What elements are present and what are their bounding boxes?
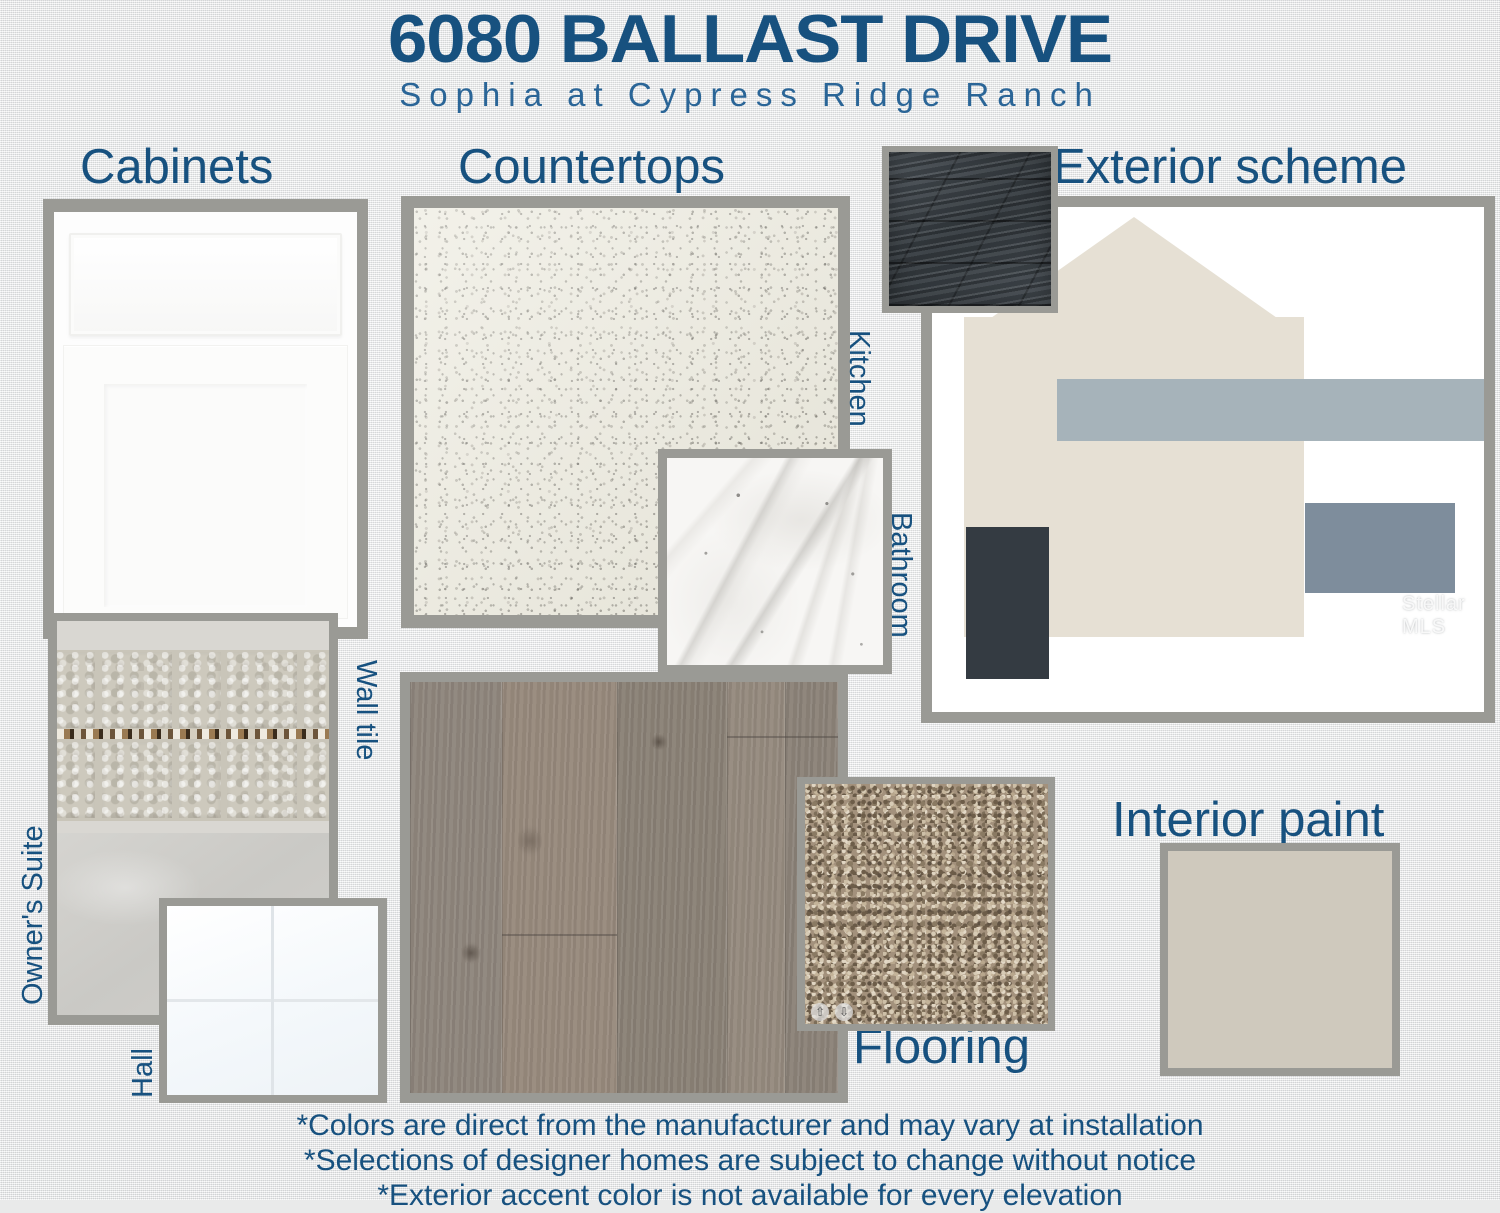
mosaic-tile — [57, 652, 95, 728]
plank-seam — [727, 736, 838, 738]
section-heading-exterior: Exterior scheme — [1053, 142, 1407, 192]
mosaic-top-bar — [57, 621, 329, 650]
accent-swatch — [1305, 503, 1455, 593]
selections-board: 6080 BALLAST DRIVE Sophia at Cypress Rid… — [0, 0, 1500, 1200]
wood-plank — [727, 682, 785, 1093]
front-door-swatch — [966, 527, 1049, 679]
mosaic-accent-strip — [57, 729, 329, 739]
mosaic-tile — [304, 742, 329, 818]
mosaic-tile — [102, 652, 172, 728]
cabinet-door-front — [63, 345, 348, 619]
watermark: Stellar MLS — [1402, 593, 1484, 639]
label-kitchen: Kitchen — [844, 330, 874, 427]
cabinet-drawer-front — [69, 233, 342, 337]
plank-seam — [502, 934, 617, 936]
bathroom-countertop-swatch — [667, 458, 883, 665]
mosaic-tile — [179, 652, 221, 728]
wood-plank — [502, 682, 617, 1093]
disclaimer-line-1: *Colors are direct from the manufacturer… — [0, 1108, 1500, 1143]
mosaic-tile — [227, 742, 297, 818]
hall-tile-swatch — [167, 906, 378, 1095]
mosaic-tile — [304, 652, 329, 728]
wood-knot — [462, 940, 480, 966]
disclaimer-line-3: *Exterior accent color is not available … — [0, 1178, 1500, 1213]
wood-plank — [617, 682, 727, 1093]
mosaic-tile — [227, 652, 297, 728]
interior-paint-swatch — [1168, 851, 1392, 1068]
shingle-swatch — [889, 152, 1051, 306]
section-heading-cabinets: Cabinets — [80, 142, 273, 192]
section-heading-countertops: Countertops — [458, 142, 725, 192]
section-heading-wall-tile: Wall tile — [351, 660, 381, 760]
page-subtitle: Sophia at Cypress Ridge Ranch — [0, 78, 1500, 112]
trim-swatch — [1057, 379, 1484, 441]
mosaic-tile — [179, 742, 221, 818]
cabinet-swatch — [54, 212, 357, 627]
mosaic-tile — [102, 742, 172, 818]
scroll-up-icon[interactable]: ⇧ — [811, 1003, 829, 1021]
carpet-swatch: ⇧ ⇩ — [805, 784, 1048, 1024]
wood-knot — [649, 734, 669, 750]
wood-knot — [518, 822, 542, 860]
label-bathroom: Bathroom — [886, 512, 916, 638]
page-title: 6080 BALLAST DRIVE — [0, 4, 1500, 74]
scroll-down-icon[interactable]: ⇩ — [835, 1003, 853, 1021]
label-hall: Hall — [128, 1048, 158, 1098]
section-heading-interior-paint: Interior paint — [1112, 795, 1384, 845]
wood-plank — [410, 682, 502, 1093]
mosaic-bottom-bar — [57, 821, 329, 833]
mosaic-tile — [57, 742, 95, 818]
disclaimer-line-2: *Selections of designer homes are subjec… — [0, 1143, 1500, 1178]
label-owners-suite: Owner's Suite — [18, 825, 48, 1005]
owners-suite-mosaic-swatch — [57, 621, 329, 833]
wood-flooring-swatch — [410, 682, 838, 1093]
